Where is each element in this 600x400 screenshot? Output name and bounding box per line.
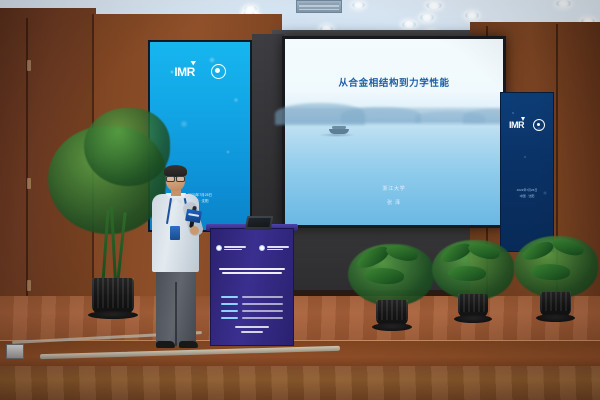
podium-info-row (221, 296, 283, 298)
cable-connector-box (6, 344, 24, 359)
speaker-shoe (156, 341, 175, 348)
speaker-hand (190, 226, 199, 235)
downlight-icon (420, 14, 434, 21)
hall-floor (0, 366, 600, 400)
downlight-icon (426, 2, 442, 9)
speaker-shoe (179, 341, 198, 348)
standee-banner-right: IMR 2023年7月26日 中国 · 沈阳 (500, 92, 554, 252)
standee-logos: IMR (501, 119, 553, 131)
partner-emblem-icon (259, 245, 265, 251)
imr-logo-icon: IMR (509, 120, 524, 130)
boat-on-lake (329, 129, 349, 134)
podium-info-row (221, 303, 283, 305)
standee-footer: 2023年7月26日 中国 · 沈阳 (501, 187, 553, 199)
podium-logo-left (216, 245, 246, 251)
laptop-on-podium (245, 216, 273, 230)
led-banner-logos: IMR (150, 64, 250, 79)
screen-left-bezel-gap (252, 34, 284, 234)
led-banner-headline (156, 108, 244, 126)
imr-logo-icon: IMR (174, 65, 195, 79)
slide-title: 从合金相结构到力学性能 (285, 75, 503, 89)
door-hinge (27, 178, 31, 189)
plant-pot (376, 300, 408, 326)
podium-logo-right (259, 245, 289, 251)
microphone-flag (185, 209, 202, 223)
slide-background-image (285, 39, 503, 225)
podium-info-row (221, 317, 283, 319)
speaker-badge (170, 226, 180, 240)
slide-presenter-name: 张 泽 (285, 199, 503, 206)
institute-emblem-icon (533, 119, 545, 131)
door-hinge (27, 60, 31, 71)
mountain-silhouette (341, 107, 421, 123)
institute-emblem-icon (211, 64, 226, 79)
podium-title (219, 265, 285, 277)
imr-emblem-icon (216, 245, 222, 251)
air-vent (296, 0, 342, 13)
podium (210, 228, 294, 346)
speaker-legs (156, 268, 196, 346)
plant-pot (540, 292, 571, 317)
projection-screen: 从合金相结构到力学性能 浙江大学 张 泽 (282, 36, 506, 228)
podium-footer (211, 324, 293, 335)
standee-headline (509, 155, 545, 173)
downlight-icon (556, 0, 571, 7)
door-hinge (27, 280, 31, 291)
conference-stage-photo: 从合金相结构到力学性能 浙江大学 张 泽 IMR 2023年7月26日 中国 ·… (0, 0, 600, 400)
speaker-glasses (166, 176, 185, 180)
downlight-icon (352, 2, 365, 8)
slide-affiliation: 浙江大学 (285, 185, 503, 192)
podium-info-row (221, 310, 283, 312)
podium-logos (211, 245, 293, 251)
downlight-icon (402, 21, 416, 28)
podium-info-rows (221, 291, 283, 324)
standee-place: 中国 · 沈阳 (501, 193, 553, 199)
bamboo-palm (84, 108, 170, 186)
downlight-icon (465, 12, 479, 19)
plant-pot (458, 294, 488, 318)
plant-pot (92, 278, 134, 314)
